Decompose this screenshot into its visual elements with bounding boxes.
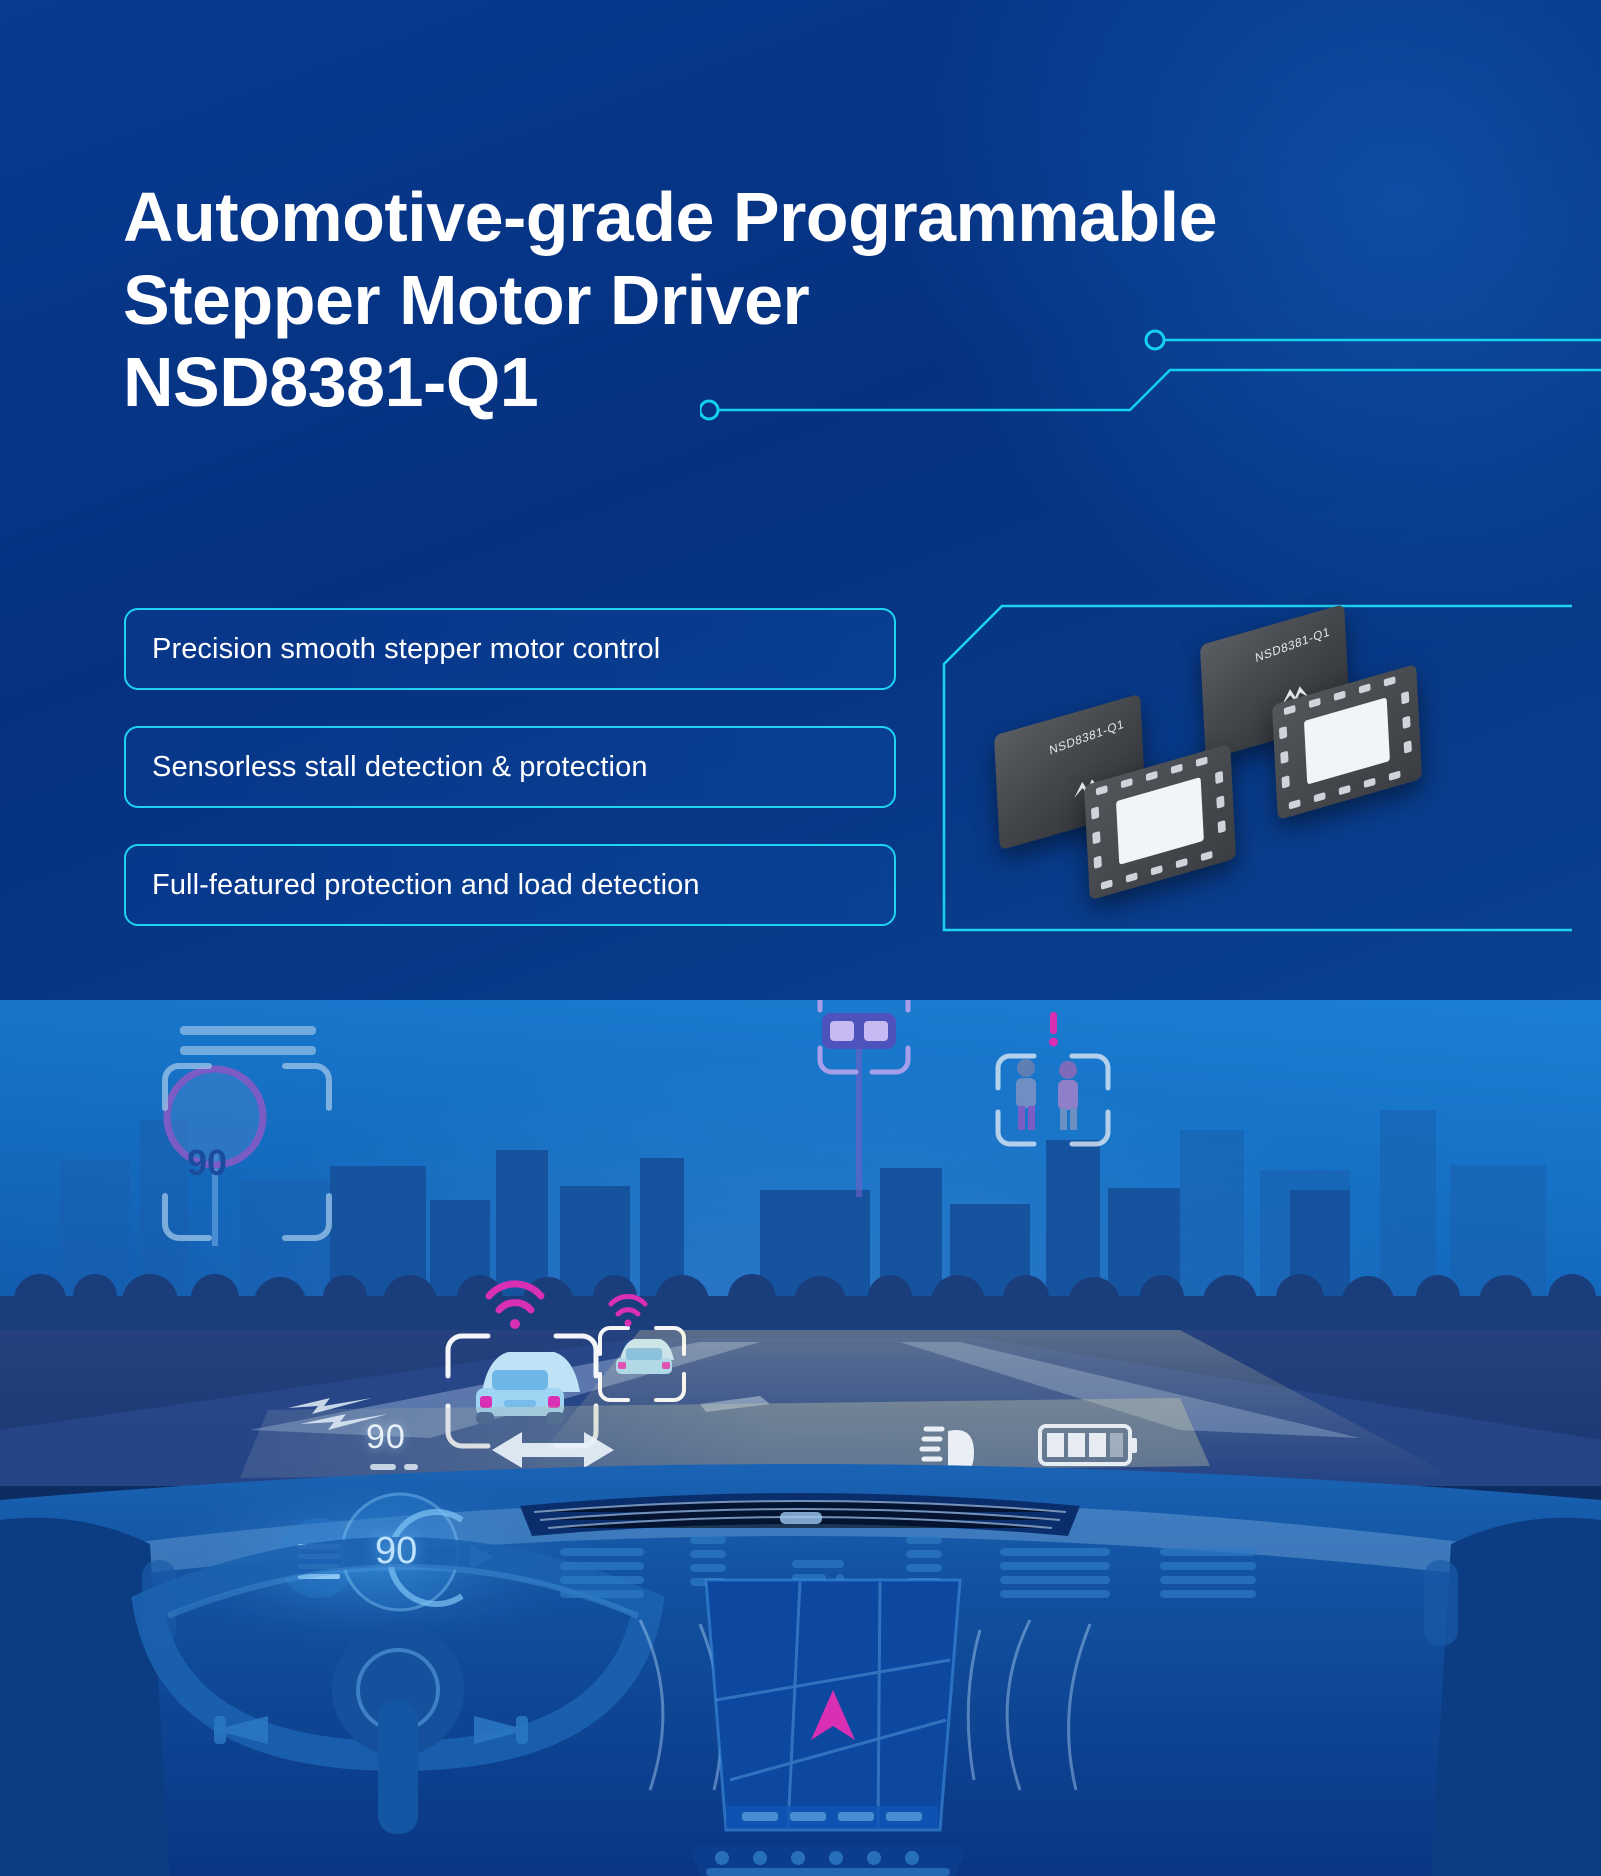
hero-section: Automotive-grade Programmable Stepper Mo… (0, 0, 1601, 1010)
thermal-pad (1116, 777, 1204, 865)
feature-item-3: Full-featured protection and load detect… (124, 844, 896, 926)
cluster-speed-value: 90 (375, 1530, 417, 1573)
chip-group: NSD8381-Q1 NSD8381-Q1 (972, 624, 1552, 914)
feature-label: Sensorless stall detection & protection (152, 751, 648, 784)
promo-banner: Automotive-grade Programmable Stepper Mo… (0, 0, 1601, 1876)
navigation-display (706, 1580, 960, 1830)
page-title: Automotive-grade Programmable Stepper Mo… (123, 176, 1383, 424)
hud-speed-underline (370, 1464, 396, 1470)
feature-list: Precision smooth stepper motor control S… (124, 608, 896, 962)
scene-illustration (0, 1000, 1601, 1876)
traffic-light-pole (856, 1047, 862, 1197)
hud-speed-underline-2 (404, 1464, 418, 1470)
car-dashboard (0, 1464, 1601, 1876)
steering-column (378, 1700, 418, 1834)
sign-signal-bars (180, 1026, 316, 1055)
feature-label: Precision smooth stepper motor control (152, 633, 660, 666)
pedestrian-alert-icon (1049, 1012, 1058, 1047)
pedestrian-2 (1058, 1061, 1078, 1130)
chip-marking: NSD8381-Q1 (1254, 624, 1330, 665)
pedestrian-1 (1016, 1059, 1036, 1130)
feature-label: Full-featured protection and load detect… (152, 869, 700, 902)
detected-pedestrians (1016, 1059, 1078, 1130)
thermal-pad (1304, 697, 1390, 784)
automotive-scene: 90 90 90 (0, 1000, 1601, 1876)
center-console-controls (690, 1846, 966, 1876)
door-panel-right (1424, 1518, 1601, 1876)
speed-limit-value: 90 (187, 1142, 227, 1184)
title-line-3: NSD8381-Q1 (123, 341, 1383, 424)
title-line-1: Automotive-grade Programmable (123, 176, 1383, 259)
feature-item-2: Sensorless stall detection & protection (124, 726, 896, 808)
feature-item-1: Precision smooth stepper motor control (124, 608, 896, 690)
chip-marking: NSD8381-Q1 (1049, 716, 1125, 757)
title-line-2: Stepper Motor Driver (123, 259, 1383, 342)
door-handle-right (1424, 1560, 1458, 1646)
detection-bracket-pedestrians (998, 1056, 1108, 1144)
vent-slider (780, 1512, 822, 1524)
hud-speed-value: 90 (366, 1418, 406, 1457)
product-showcase-panel: NSD8381-Q1 NSD8381-Q1 (942, 604, 1572, 932)
